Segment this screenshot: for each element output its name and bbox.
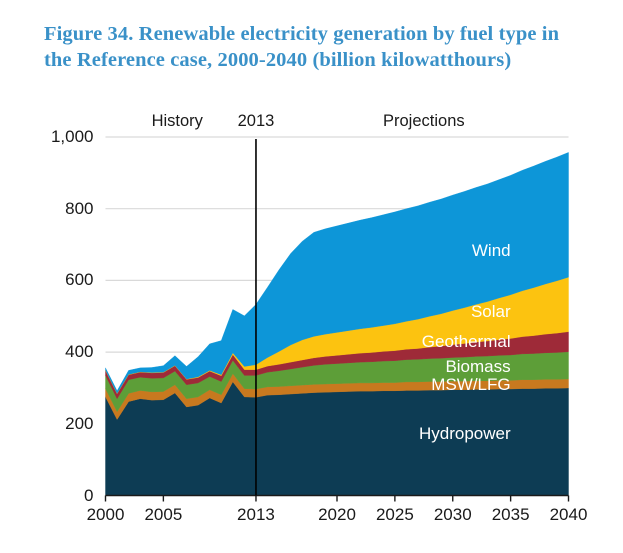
divider-year-label: 2013 [186, 112, 326, 131]
y-axis-tick-label: 400 [30, 342, 94, 362]
series-label-msw-lfg: MSW/LFG [351, 375, 519, 395]
x-axis-tick-label: 2020 [307, 505, 367, 525]
figure-container: Figure 34. Renewable electricity generat… [0, 0, 623, 553]
x-axis-tick-label: 2000 [76, 505, 136, 525]
series-label-geothermal: Geothermal [351, 332, 519, 352]
axes [106, 496, 569, 502]
series-label-solar: Solar [351, 302, 519, 322]
x-axis-tick-label: 2025 [365, 505, 425, 525]
y-axis-tick-label: 1,000 [30, 127, 94, 147]
x-axis-tick-label: 2005 [133, 505, 193, 525]
x-axis-tick-label: 2035 [481, 505, 541, 525]
y-axis-tick-label: 200 [30, 414, 94, 434]
series-areas [106, 152, 569, 495]
y-axis-tick-label: 800 [30, 199, 94, 219]
series-label-wind: Wind [351, 241, 519, 261]
x-axis-tick-label: 2030 [423, 505, 483, 525]
series-label-hydropower: Hydropower [351, 424, 519, 444]
y-axis-tick-label: 0 [30, 486, 94, 506]
x-axis-tick-label: 2040 [539, 505, 599, 525]
y-axis-tick-label: 600 [30, 270, 94, 290]
projections-label: Projections [354, 112, 494, 131]
x-axis-tick-label: 2013 [226, 505, 286, 525]
